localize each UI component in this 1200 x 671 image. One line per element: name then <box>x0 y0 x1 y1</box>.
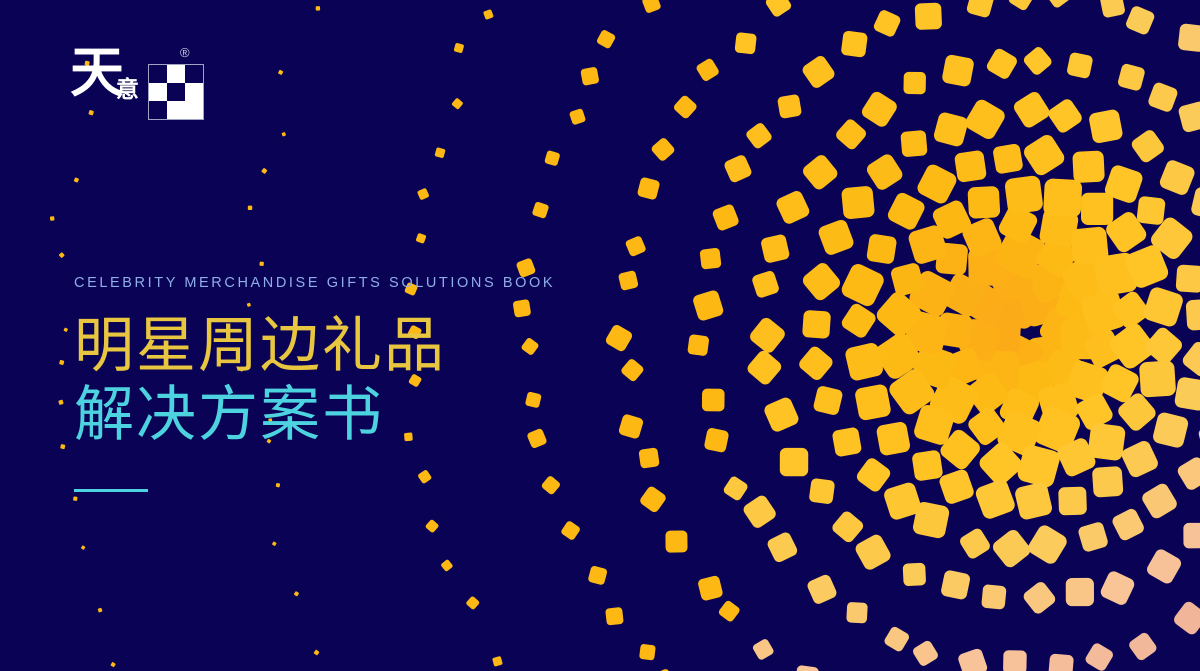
logo-character-yi: 意 <box>116 78 139 101</box>
hero-accent-rule <box>74 489 148 492</box>
slide-canvas: 天 意 ® CELEBRITY MERCHANDISE GIFTS SOLUTI… <box>0 0 1200 671</box>
brand-logo: 天 意 ® <box>72 48 222 124</box>
logo-chinese-wordmark: 天 意 <box>72 50 146 120</box>
registered-trademark-icon: ® <box>180 46 190 59</box>
checkerboard-square-icon <box>148 64 204 120</box>
hero-headline-line-1: 明星周边礼品 <box>74 312 555 382</box>
hero-tagline: CELEBRITY MERCHANDISE GIFTS SOLUTIONS BO… <box>74 276 555 291</box>
hero-headline-line-2: 解决方案书 <box>74 381 555 451</box>
hero-text-block: CELEBRITY MERCHANDISE GIFTS SOLUTIONS BO… <box>74 276 555 492</box>
